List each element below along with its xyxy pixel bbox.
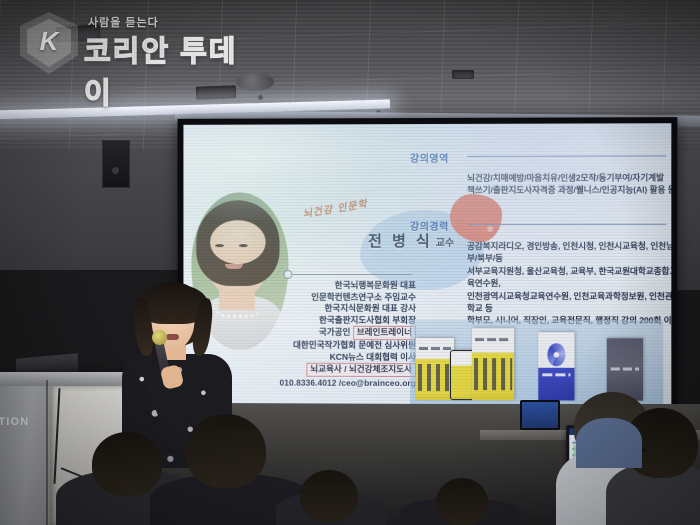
- side-monitor-screen: [522, 402, 558, 428]
- section-body-lecture-history: 공감복지라디오, 경인방송, 인천시청, 인천시교육청, 인천남부/북부/동 서…: [467, 240, 671, 327]
- portrait-eye-right: [239, 244, 248, 247]
- audience-head: [436, 478, 488, 525]
- credentials-list: 한국뇌행복문화원 대표 인문학컨텐츠연구소 주임교수 한국지식문화원 대표 강사…: [249, 280, 416, 389]
- book-title-lines: [475, 338, 510, 341]
- section-body-lecture-areas: 뇌건강/치매예방/마음치유/인생2모작/동기부여/자기계발 책쓰기/출판지도사자…: [467, 171, 671, 196]
- audience-shoulders: [576, 418, 642, 468]
- logo-letter-k: K: [20, 26, 78, 57]
- handwriting-label: 뇌건강 인문학: [302, 195, 369, 220]
- portrait-eye-left: [215, 244, 224, 247]
- projection-screen-frame: 뇌건강 인문학 전 병 식교수 한국뇌행복문화원 대표 인문학컨텐츠연구소 주임…: [178, 117, 678, 417]
- credentials-divider: [290, 274, 412, 275]
- book-covers-panel: [410, 320, 663, 405]
- presenter-eye-left: [158, 316, 165, 319]
- book-cover-yellow-2: [472, 328, 514, 400]
- lecture-history-line: 서부교육지원청, 울산교육청, 교육부, 한국교원대학교종합교육연수원,: [467, 265, 671, 290]
- credential-item-certified: 국가공인 브레인트레이너: [249, 326, 416, 340]
- book-promo-phone: [450, 350, 474, 400]
- podium-seam: [46, 380, 48, 525]
- lecture-area-line: 뇌건강/치매예방/마음치유/인생2모작/동기부여/자기계발: [467, 171, 671, 184]
- side-monitor: [520, 400, 560, 430]
- certified-highlight-box: 브레인트레이너: [353, 326, 416, 340]
- contact-info: 010.8336.4012 /ceo@brainceo.org: [249, 377, 416, 389]
- credential-item: 인문학컨텐츠연구소 주임교수: [249, 291, 416, 303]
- portrait-mouth: [225, 264, 243, 269]
- certified-prefix: 국가공인: [319, 327, 350, 337]
- lecture-area-line: 책쓰기/출판지도사자격증 과정/웰니스/인공지능(AI) 활용 등: [467, 184, 671, 197]
- podium-top: [0, 372, 126, 386]
- ceiling-sprinkler: [452, 70, 474, 79]
- speaker-title-text: 교수: [436, 238, 454, 249]
- credential-item: 한국지식문화원 대표 강사: [249, 303, 416, 315]
- podium-label: ATION: [0, 416, 54, 428]
- credentials-divider-dot: [284, 270, 293, 279]
- section-heading-lecture-history: 강의경력: [410, 218, 449, 233]
- credential-item: 한국출판지도사협회 부회장: [249, 315, 416, 327]
- microphone-head-icon: [152, 330, 167, 345]
- lecture-history-line: 인천광역시교육청교육연수원, 인천교육과학정보원, 인천관내학교 등: [467, 290, 671, 315]
- photo-scene: 뇌건강 인문학 전 병 식교수 한국뇌행복문화원 대표 인문학컨텐츠연구소 주임…: [0, 0, 700, 525]
- book-cover-blue: [538, 332, 574, 400]
- watermark-brand: 코리안 투데이: [84, 28, 264, 112]
- logo-hex-icon: K: [20, 12, 78, 74]
- audience-head: [300, 470, 358, 522]
- book-title-lines: [611, 367, 639, 370]
- portrait-hair: [196, 200, 279, 286]
- credential-item-boxed-2: 뇌교육사 / 뇌건강체조지도사: [249, 363, 416, 377]
- section-heading-lecture-areas: 강의영역: [410, 150, 449, 165]
- watermark-logo: K 사람을 듣는다 코리안 투데이: [14, 8, 264, 74]
- book-cover-yellow-1: [416, 338, 454, 400]
- book-title-lines: [419, 347, 451, 350]
- certified-highlight-box-2: 뇌교육사 / 뇌건강체조지도사: [306, 363, 416, 377]
- book-spiral-graphic: [548, 343, 565, 366]
- section-rule-2: [467, 224, 666, 225]
- audience-head: [186, 414, 266, 488]
- presenter-eye-right: [178, 316, 185, 319]
- book-figures: [474, 358, 513, 390]
- wall-left: [0, 150, 190, 270]
- credential-item: 대한민국작가협회 문예전 심사위원: [249, 340, 416, 352]
- credential-item: 한국뇌행복문화원 대표: [249, 280, 416, 292]
- audience-head: [92, 432, 162, 496]
- book-title-lines: [542, 373, 571, 376]
- lecture-history-line: 공감복지라디오, 경인방송, 인천시청, 인천시교육청, 인천남부/북부/동: [467, 240, 671, 265]
- wall-speaker: [102, 140, 130, 188]
- section-rule-1: [467, 155, 666, 157]
- credential-item: KCN뉴스 대회협력 이사: [249, 351, 416, 363]
- book-figures: [418, 364, 453, 391]
- presenter-mouth: [166, 334, 179, 340]
- speaker-name-text: 전 병 식: [368, 233, 433, 250]
- projection-screen: 뇌건강 인문학 전 병 식교수 한국뇌행복문화원 대표 인문학컨텐츠연구소 주임…: [183, 123, 671, 405]
